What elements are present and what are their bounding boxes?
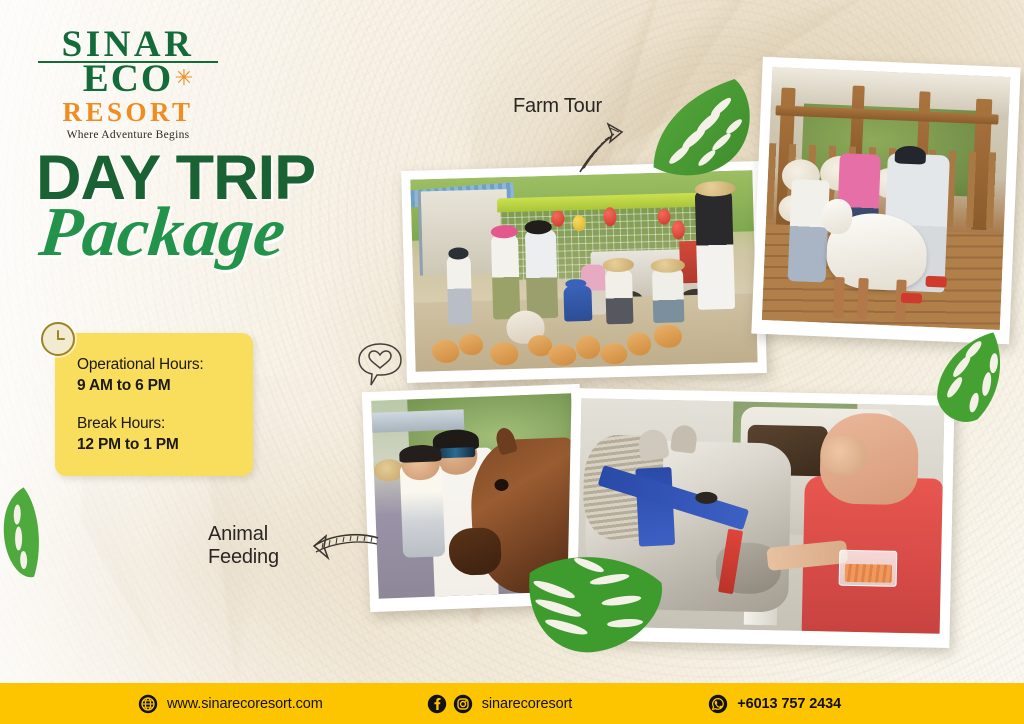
- label-farm-tour: Farm Tour: [513, 95, 602, 118]
- page-title: DAY TRIP Package: [36, 150, 315, 264]
- resort-logo: SINAR ECO ✳ RESORT Where Adventure Begin…: [38, 28, 218, 141]
- operational-hours-label: Operational Hours:: [77, 355, 233, 376]
- starburst-icon: ✳: [174, 68, 194, 88]
- break-hours-label: Break Hours:: [77, 414, 233, 435]
- footer-social[interactable]: sinarecoresort: [427, 694, 572, 714]
- clock-icon: [41, 322, 75, 356]
- contact-footer-bar: www.sinarecoresort.com sinarecoresort +6…: [0, 683, 1024, 724]
- footer-whatsapp[interactable]: +6013 757 2434: [708, 694, 841, 714]
- photo-farm-chickens: [401, 161, 767, 383]
- footer-social-handle: sinarecoresort: [482, 696, 572, 712]
- footer-website-text: www.sinarecoresort.com: [167, 696, 323, 712]
- instagram-icon[interactable]: [453, 694, 473, 714]
- logo-text-resort: RESORT: [38, 99, 218, 126]
- footer-phone-text: +6013 757 2434: [737, 696, 841, 712]
- facebook-icon[interactable]: [427, 694, 447, 714]
- photo-goat-petting: [751, 57, 1020, 345]
- label-animal-feeding: Animal Feeding: [208, 523, 279, 569]
- heart-speech-bubble-icon: [355, 341, 405, 389]
- whatsapp-icon[interactable]: [708, 694, 728, 714]
- headline-package: Package: [37, 202, 319, 264]
- operational-hours-value: 9 AM to 6 PM: [77, 376, 233, 397]
- footer-website[interactable]: www.sinarecoresort.com: [138, 694, 323, 714]
- break-hours-value: 12 PM to 1 PM: [77, 435, 233, 456]
- monstera-leaf-icon-bottom: [517, 535, 675, 672]
- logo-text-eco: ECO: [83, 61, 174, 98]
- operating-hours-card: Operational Hours: 9 AM to 6 PM Break Ho…: [55, 333, 253, 476]
- day-trip-package-poster: SINAR ECO ✳ RESORT Where Adventure Begin…: [0, 0, 1024, 724]
- logo-tagline: Where Adventure Begins: [38, 129, 218, 141]
- globe-icon: [138, 694, 158, 714]
- hand-drawn-arrow-up-right-icon: [572, 118, 634, 176]
- hand-drawn-arrow-right-icon: [310, 528, 382, 570]
